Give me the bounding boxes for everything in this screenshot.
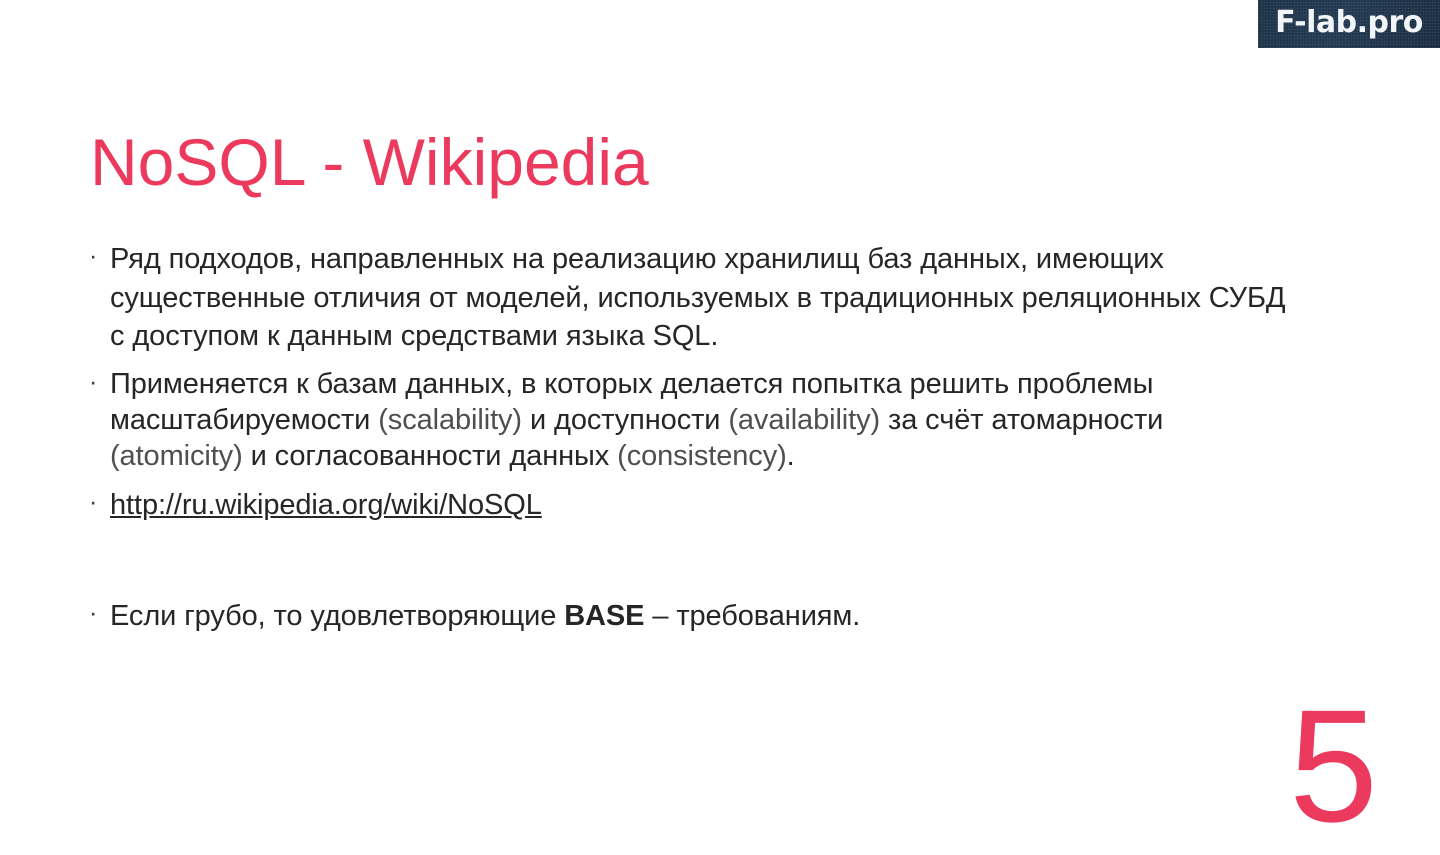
bullet-base: · Если грубо, то удовлетворяющие BASE – … [86,597,1296,636]
muted-term: (availability) [728,404,880,436]
wikipedia-link[interactable]: http://ru.wikipedia.org/wiki/NoSQL [110,486,1296,525]
muted-term: (scalability) [378,404,522,436]
base-keyword: BASE [564,600,644,632]
page-number: 5 [1289,686,1378,846]
bullet-dot-icon: · [86,597,110,626]
link-text[interactable]: http://ru.wikipedia.org/wiki/NoSQL [110,489,542,521]
bullet-link[interactable]: · http://ru.wikipedia.org/wiki/NoSQL [86,486,1296,525]
bullet-scalability-text: Применяется к базам данных, в которых де… [110,366,1296,475]
muted-term: (atomicity) [110,440,243,472]
bullet-scalability: · Применяется к базам данных, в которых … [86,366,1296,475]
slide-title: NoSQL - Wikipedia [90,126,649,199]
slide-body: · Ряд подходов, направленных на реализац… [86,240,1296,636]
brand-logo-text: F-lab.pro [1275,8,1423,40]
bullet-dot-icon: · [86,240,110,269]
bullet-dot-icon: · [86,486,110,515]
bullet-dot-icon: · [86,366,110,395]
bullet-approaches: · Ряд подходов, направленных на реализац… [86,240,1296,356]
brand-logo-badge: F-lab.pro [1258,0,1440,48]
muted-term: (consistency) [617,440,787,472]
bullet-base-text: Если грубо, то удовлетворяющие BASE – тр… [110,597,1296,636]
bullet-approaches-text: Ряд подходов, направленных на реализацию… [110,240,1296,356]
